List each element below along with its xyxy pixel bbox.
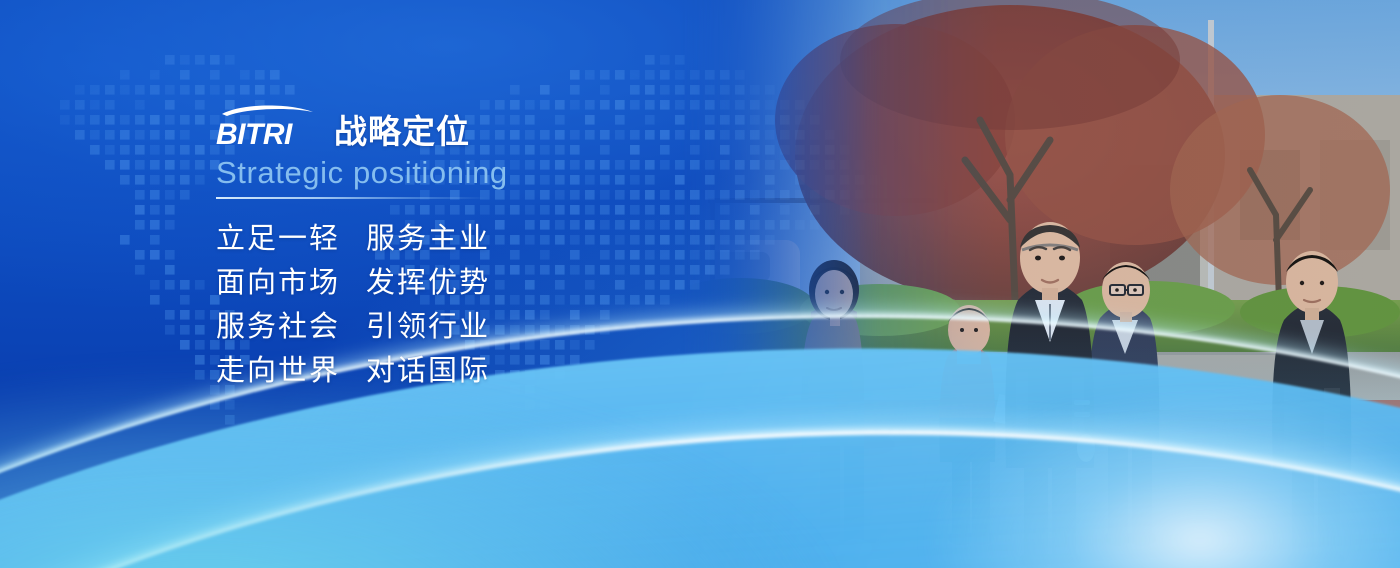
slogan-left: 走向世界 <box>216 355 340 387</box>
slogan-right: 发挥优势 <box>366 267 490 299</box>
title-chinese: 战略定位 <box>334 114 470 150</box>
slogan-line: 面向市场发挥优势 <box>216 261 736 305</box>
slogan-left: 面向市场 <box>216 267 340 299</box>
bitri-logo: BITRI <box>216 104 320 150</box>
banner-content: BITRI 战略定位 Strategic positioning 立足一轻服务主… <box>216 104 736 393</box>
swoosh-arc-icon <box>222 105 313 116</box>
title-row: BITRI 战略定位 <box>216 104 736 150</box>
slogan-line: 服务社会引领行业 <box>216 305 736 349</box>
slogan-line: 走向世界对话国际 <box>216 349 736 393</box>
svg-text:BITRI: BITRI <box>216 118 293 150</box>
photo-group-walking <box>680 0 1400 568</box>
subtitle-english: Strategic positioning <box>216 156 736 190</box>
title-divider-rule <box>216 197 488 199</box>
strategic-positioning-banner: BITRI 战略定位 Strategic positioning 立足一轻服务主… <box>0 0 1400 568</box>
slogan-left: 立足一轻 <box>216 223 340 255</box>
slogan-right: 服务主业 <box>366 223 490 255</box>
slogan-line: 立足一轻服务主业 <box>216 217 736 261</box>
slogan-right: 引领行业 <box>366 311 490 343</box>
slogan-list: 立足一轻服务主业 面向市场发挥优势 服务社会引领行业 走向世界对话国际 <box>216 217 736 393</box>
slogan-right: 对话国际 <box>366 355 490 387</box>
slogan-left: 服务社会 <box>216 311 340 343</box>
